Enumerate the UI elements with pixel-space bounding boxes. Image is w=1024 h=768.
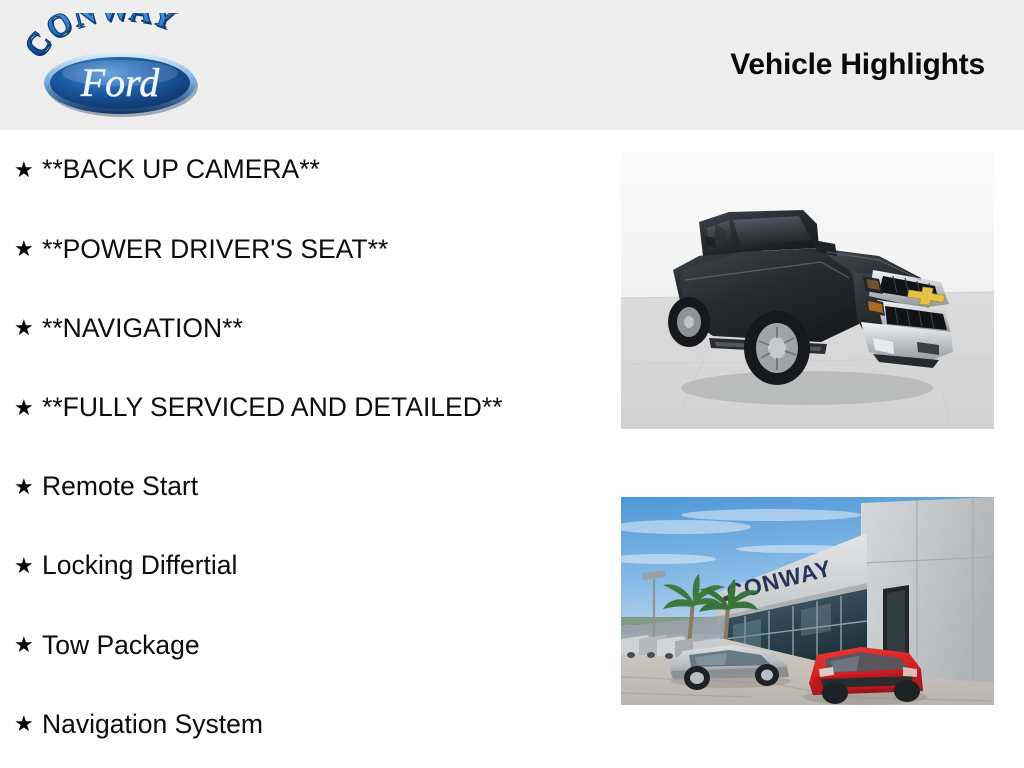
highlight-item: ★Remote Start [14, 470, 198, 504]
highlight-item: ★Tow Package [14, 628, 200, 662]
vehicle-highlights-list: ★**BACK UP CAMERA**★**POWER DRIVER'S SEA… [0, 130, 612, 768]
star-bullet-icon: ★ [14, 238, 42, 260]
star-bullet-icon: ★ [14, 159, 42, 181]
highlight-item-label: Remote Start [42, 472, 198, 501]
highlight-item-label: **FULLY SERVICED AND DETAILED** [42, 393, 502, 422]
highlight-item: ★**NAVIGATION** [14, 311, 243, 345]
star-bullet-icon: ★ [14, 555, 42, 577]
logo-ford-oval: Ford [44, 52, 198, 117]
star-bullet-icon: ★ [14, 713, 42, 735]
highlight-item-label: Locking Differtial [42, 551, 237, 580]
vehicle-photo[interactable] [621, 152, 994, 429]
highlight-item: ★Navigation System [14, 707, 263, 741]
highlight-item-label: **NAVIGATION** [42, 314, 243, 343]
highlight-item-label: Tow Package [42, 631, 200, 660]
vehicle-highlights-page: CONWAY CONWAY Ford Vehicle Highlights [0, 0, 1024, 768]
star-bullet-icon: ★ [14, 317, 42, 339]
svg-text:Ford: Ford [80, 60, 161, 105]
star-bullet-icon: ★ [14, 397, 42, 419]
highlight-item: ★**POWER DRIVER'S SEAT** [14, 232, 388, 266]
front-wheel [744, 311, 810, 385]
rear-wheel [668, 297, 710, 347]
highlight-item-label: **POWER DRIVER'S SEAT** [42, 235, 388, 264]
highlight-item: ★Locking Differtial [14, 549, 237, 583]
red-car [803, 647, 927, 705]
page-header: CONWAY CONWAY Ford Vehicle Highlights [0, 0, 1024, 130]
highlight-item: ★**FULLY SERVICED AND DETAILED** [14, 391, 502, 425]
highlight-item: ★**BACK UP CAMERA** [14, 153, 320, 187]
star-bullet-icon: ★ [14, 476, 42, 498]
page-title: Vehicle Highlights [730, 48, 985, 82]
highlight-item-label: **BACK UP CAMERA** [42, 155, 320, 184]
dealership-photo[interactable]: CONWAY [621, 497, 994, 705]
highlight-item-label: Navigation System [42, 710, 263, 739]
conway-ford-logo: CONWAY CONWAY Ford [25, 13, 211, 117]
star-bullet-icon: ★ [14, 634, 42, 656]
